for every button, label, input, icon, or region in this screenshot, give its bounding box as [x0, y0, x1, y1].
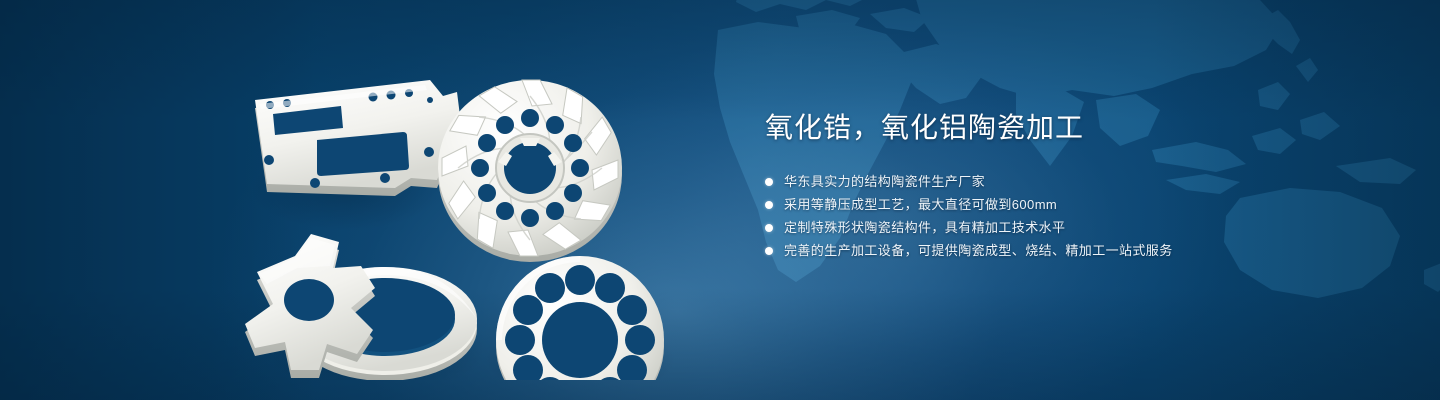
product-photo-collage — [225, 40, 715, 380]
ceramic-cross-shaped-part — [245, 234, 375, 378]
feature-list: 华东具实力的结构陶瓷件生产厂家 采用等静压成型工艺，最大直径可做到600mm 定… — [765, 170, 1385, 262]
feature-item-label: 采用等静压成型工艺，最大直径可做到600mm — [784, 193, 1057, 216]
banner-headline: 氧化锆，氧化铝陶瓷加工 — [765, 108, 1385, 148]
bullet-dot-icon — [765, 224, 773, 232]
bullet-dot-icon — [765, 201, 773, 209]
feature-item: 华东具实力的结构陶瓷件生产厂家 — [765, 170, 1385, 193]
feature-item: 采用等静压成型工艺，最大直径可做到600mm — [765, 193, 1385, 216]
ceramic-bladed-impeller — [438, 80, 622, 262]
bullet-dot-icon — [765, 247, 773, 255]
feature-item: 完善的生产加工设备，可提供陶瓷成型、烧结、精加工一站式服务 — [765, 239, 1385, 262]
banner-copy: 氧化锆，氧化铝陶瓷加工 华东具实力的结构陶瓷件生产厂家 采用等静压成型工艺，最大… — [765, 108, 1385, 262]
product-banner: 氧化锆，氧化铝陶瓷加工 华东具实力的结构陶瓷件生产厂家 采用等静压成型工艺，最大… — [0, 0, 1440, 400]
feature-item: 定制特殊形状陶瓷结构件，具有精加工技术水平 — [765, 216, 1385, 239]
bullet-dot-icon — [765, 178, 773, 186]
ceramic-plate-with-cutouts — [255, 80, 461, 196]
ceramic-perforated-disc — [496, 256, 664, 380]
feature-item-label: 完善的生产加工设备，可提供陶瓷成型、烧结、精加工一站式服务 — [784, 239, 1173, 262]
feature-item-label: 定制特殊形状陶瓷结构件，具有精加工技术水平 — [784, 216, 1065, 239]
feature-item-label: 华东具实力的结构陶瓷件生产厂家 — [784, 170, 985, 193]
